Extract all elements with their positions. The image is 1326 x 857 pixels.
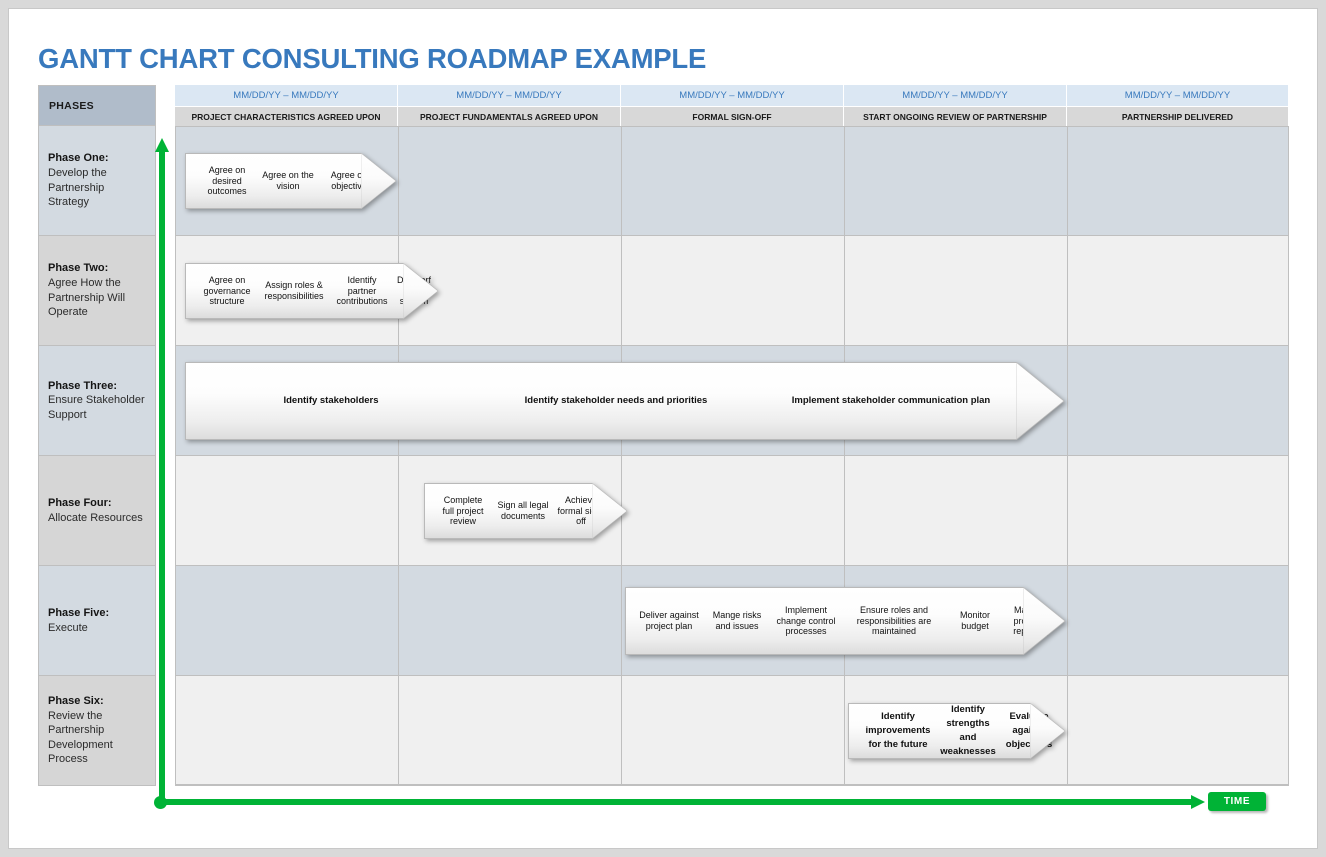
- task-label: Monitor budget: [948, 610, 1002, 632]
- phase-name: Phase Four:: [48, 496, 146, 511]
- page-title: GANTT CHART CONSULTING ROADMAP EXAMPLE: [38, 43, 706, 75]
- phase-description: Review the Partnership Development Proce…: [48, 709, 146, 767]
- task-label: Identify strengths and weaknesses: [937, 703, 999, 758]
- task-label: Ensure roles and responsibilities are ma…: [840, 605, 948, 638]
- phase-task-arrow: Complete full project reviewSign all leg…: [424, 483, 627, 539]
- task-label: Agree on the vision: [258, 170, 318, 192]
- column-date-header: MM/DD/YY – MM/DD/YY: [621, 85, 844, 107]
- task-label: Mange risks and issues: [702, 610, 772, 632]
- phase-description: Execute: [48, 621, 146, 636]
- arrow-head-icon: [1023, 587, 1065, 655]
- arrow-body: Deliver against project planMange risks …: [625, 587, 1023, 655]
- task-label: Agree on governance structure: [196, 275, 258, 308]
- task-label: Implement change control processes: [772, 605, 840, 638]
- task-label: Assign roles & responsibilities: [258, 280, 330, 302]
- task-label: Sign all legal documents: [491, 500, 555, 522]
- column-milestone-header: PROJECT FUNDAMENTALS AGREED UPON: [398, 107, 621, 126]
- phase-task-arrow: Deliver against project planMange risks …: [625, 587, 1065, 655]
- column-milestone-header: FORMAL SIGN-OFF: [621, 107, 844, 126]
- time-axis-horizontal-arrowhead-icon: [1191, 795, 1205, 809]
- phase-name: Phase Two:: [48, 261, 146, 276]
- task-label: Implement stakeholder communication plan: [766, 394, 1016, 408]
- task-label: Deliver against project plan: [636, 610, 702, 632]
- phase-label-cell: Phase Two:Agree How the Partnership Will…: [38, 236, 156, 346]
- column-divider: [1067, 126, 1068, 786]
- arrow-body: Agree on governance structureAssign role…: [185, 263, 403, 319]
- arrow-body: Identify improvements for the futureIden…: [848, 703, 1030, 759]
- time-axis-origin-dot: [154, 796, 167, 809]
- arrow-body: Complete full project reviewSign all leg…: [424, 483, 592, 539]
- phase-task-arrow: Agree on desired outcomesAgree on the vi…: [185, 153, 396, 209]
- task-label: Identify partner contributions: [330, 275, 394, 308]
- column-date-header: MM/DD/YY – MM/DD/YY: [398, 85, 621, 107]
- phase-label-cell: Phase One:Develop the Partnership Strate…: [38, 126, 156, 236]
- phase-row-band: [175, 676, 1289, 786]
- time-axis-vertical-arrowhead-icon: [155, 138, 169, 152]
- task-label: Complete full project review: [435, 495, 491, 528]
- phase-label-cell: Phase Four:Allocate Resources: [38, 456, 156, 566]
- task-label: Identify stakeholders: [196, 394, 466, 408]
- column-divider: [844, 126, 845, 786]
- phase-task-arrow: Agree on governance structureAssign role…: [185, 263, 438, 319]
- phase-label-cell: Phase Three:Ensure Stakeholder Support: [38, 346, 156, 456]
- arrow-head-icon: [403, 263, 438, 319]
- phase-name: Phase Five:: [48, 606, 146, 621]
- roadmap-grid: MM/DD/YY – MM/DD/YYPROJECT CHARACTERISTI…: [175, 85, 1289, 785]
- column-milestone-header: PARTNERSHIP DELIVERED: [1067, 107, 1289, 126]
- task-label: Identify improvements for the future: [859, 710, 937, 751]
- phase-label-cell: Phase Five:Execute: [38, 566, 156, 676]
- arrow-head-icon: [1016, 362, 1064, 440]
- column-date-header: MM/DD/YY – MM/DD/YY: [175, 85, 398, 107]
- time-label-badge: TIME: [1208, 792, 1266, 811]
- phase-description: Allocate Resources: [48, 511, 146, 526]
- column-date-header: MM/DD/YY – MM/DD/YY: [1067, 85, 1289, 107]
- arrow-body: Agree on desired outcomesAgree on the vi…: [185, 153, 361, 209]
- phases-header-cell: PHASES: [38, 85, 156, 126]
- column-divider: [621, 126, 622, 786]
- arrow-head-icon: [592, 483, 627, 539]
- phase-name: Phase One:: [48, 151, 146, 166]
- phase-label-cell: Phase Six:Review the Partnership Develop…: [38, 676, 156, 786]
- document-sheet: GANTT CHART CONSULTING ROADMAP EXAMPLE P…: [8, 8, 1318, 849]
- phase-name: Phase Six:: [48, 694, 146, 709]
- phase-description: Develop the Partnership Strategy: [48, 166, 146, 210]
- arrow-head-icon: [361, 153, 396, 209]
- phase-row-band: [175, 456, 1289, 566]
- phase-description: Agree How the Partnership Will Operate: [48, 276, 146, 320]
- column-milestone-header: START ONGOING REVIEW OF PARTNERSHIP: [844, 107, 1067, 126]
- arrow-head-icon: [1030, 703, 1065, 759]
- column-date-header: MM/DD/YY – MM/DD/YY: [844, 85, 1067, 107]
- phase-name: Phase Three:: [48, 379, 146, 394]
- time-axis-horizontal: [159, 799, 1194, 805]
- column-milestone-header: PROJECT CHARACTERISTICS AGREED UPON: [175, 107, 398, 126]
- time-axis-vertical: [159, 149, 165, 802]
- arrow-body: Identify stakeholdersIdentify stakeholde…: [185, 362, 1016, 440]
- task-label: Agree on desired outcomes: [196, 165, 258, 198]
- column-divider: [398, 126, 399, 786]
- phase-task-arrow: Identify improvements for the futureIden…: [848, 703, 1065, 759]
- task-label: Identify stakeholder needs and prioritie…: [466, 394, 766, 408]
- phase-description: Ensure Stakeholder Support: [48, 393, 146, 422]
- phase-task-arrow: Identify stakeholdersIdentify stakeholde…: [185, 362, 1064, 440]
- screenshot-root: GANTT CHART CONSULTING ROADMAP EXAMPLE P…: [0, 0, 1326, 857]
